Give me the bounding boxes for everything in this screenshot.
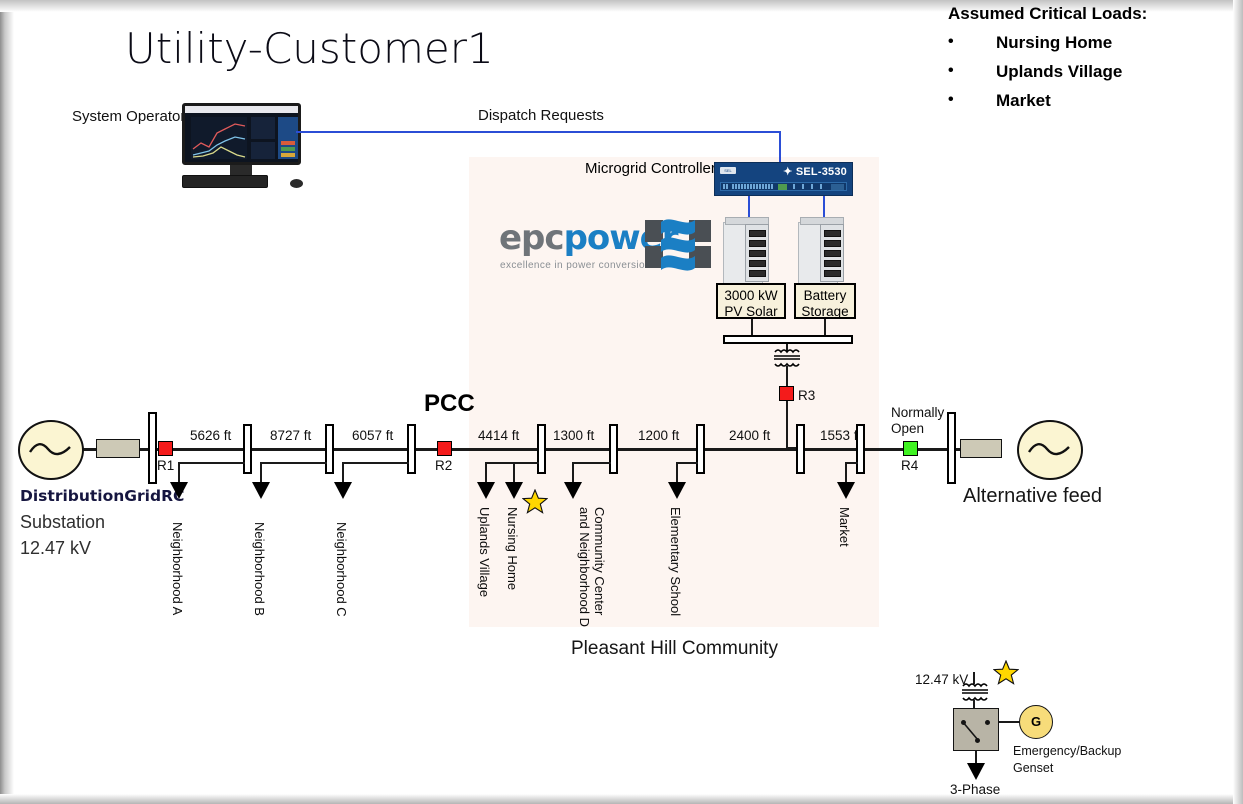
load-arrow-neighborhood-a bbox=[170, 482, 188, 499]
load-label-community-center-line1: Community Center bbox=[592, 507, 607, 615]
tap-wire-school-h bbox=[676, 462, 698, 464]
critical-load-star-icon-nursing bbox=[522, 489, 548, 515]
transfer-switch-blade bbox=[957, 718, 985, 744]
monitor-trend-svg bbox=[191, 117, 247, 159]
alternative-feed-source bbox=[1017, 420, 1083, 480]
distribution-grid-source bbox=[18, 420, 84, 480]
battery-storage-line2: Storage bbox=[796, 304, 854, 320]
tap-wire-market-v bbox=[845, 462, 847, 484]
load-label-market: Market bbox=[837, 507, 852, 547]
load-label-neighborhood-c: Neighborhood C bbox=[334, 522, 349, 617]
battery-storage-box: Battery Storage bbox=[794, 283, 856, 319]
monitor-kpi-amber bbox=[281, 153, 295, 157]
pv-solar-box: 3000 kW PV Solar bbox=[716, 283, 786, 319]
sel-brand-badge: SEL bbox=[720, 167, 736, 174]
segment-length-label: 4414 ft bbox=[478, 428, 519, 443]
alternative-feed-label: Alternative feed bbox=[963, 485, 1102, 508]
tap-wire-community-v bbox=[572, 462, 574, 484]
critical-loads-panel: Assumed Critical Loads: Nursing Home Upl… bbox=[948, 4, 1238, 115]
slide-edge-shadow-right bbox=[1233, 0, 1243, 804]
operator-workstation-icon bbox=[176, 103, 309, 191]
tap-wire-neighborhood-a-v bbox=[178, 462, 180, 484]
monitor-chart-main bbox=[191, 117, 247, 159]
substation-voltage: 12.47 kV bbox=[20, 538, 91, 559]
segment-length-label: 2400 ft bbox=[729, 428, 770, 443]
load-label-uplands-village: Uplands Village bbox=[477, 507, 492, 597]
genset-output-arrow bbox=[967, 763, 985, 780]
sel-port-strip bbox=[720, 182, 847, 191]
keyboard-icon bbox=[182, 175, 268, 188]
epcpower-logo-tagline: excellence in power conversion bbox=[500, 260, 651, 271]
recloser-r4-label: R4 bbox=[901, 458, 918, 473]
pv-inverter-cabinet bbox=[719, 214, 777, 290]
critical-load-item: Uplands Village bbox=[948, 57, 1238, 86]
segment-length-label: 1300 ft bbox=[553, 428, 594, 443]
monitor-chart-secondary bbox=[251, 117, 275, 139]
slide-canvas: Utility-Customer1 Assumed Critical Loads… bbox=[0, 0, 1243, 804]
tap-wire-school-v bbox=[676, 462, 678, 484]
transfer-switch-contact-b bbox=[985, 720, 990, 725]
load-arrow-neighborhood-b bbox=[252, 482, 270, 499]
battery-drop-wire bbox=[824, 319, 826, 335]
bus-community-center bbox=[609, 424, 618, 474]
segment-length-label: 6057 ft bbox=[352, 428, 393, 443]
load-label-nursing-home: Nursing Home bbox=[505, 507, 520, 590]
normally-open-label-line2: Open bbox=[891, 421, 924, 436]
monitor-kpi-red bbox=[281, 141, 295, 145]
ac-source-icon bbox=[20, 422, 82, 478]
pv-solar-rating: 3000 kW bbox=[718, 288, 784, 304]
monitor-kpi-green bbox=[281, 147, 295, 151]
bus-alternative-feed bbox=[947, 412, 956, 484]
genset-tie-wire bbox=[999, 721, 1021, 723]
tap-wire-neighborhood-a-h bbox=[178, 462, 245, 464]
segment-length-label: 1200 ft bbox=[638, 428, 679, 443]
der-xfmr-wire-bottom bbox=[786, 366, 788, 386]
tap-wire-nursing-v bbox=[513, 462, 515, 484]
tap-wire-neighborhood-b-h bbox=[260, 462, 327, 464]
load-label-neighborhood-b: Neighborhood B bbox=[252, 522, 267, 616]
pv-drop-wire bbox=[751, 319, 753, 335]
recloser-r3[interactable] bbox=[779, 386, 794, 401]
slide-edge-shadow-left bbox=[0, 0, 14, 804]
bus-uplands-nursing bbox=[537, 424, 546, 474]
tap-wire-uplands-v bbox=[485, 462, 487, 484]
recloser-r1[interactable] bbox=[158, 441, 173, 456]
monitor-screen bbox=[182, 103, 301, 165]
bus-elementary-school bbox=[696, 424, 705, 474]
genset-output-label: 3-Phase bbox=[950, 782, 1000, 797]
sel-model-label: ✦ SEL-3530 bbox=[783, 165, 847, 178]
load-arrow-uplands-village bbox=[477, 482, 495, 499]
monitor-side-panel bbox=[278, 117, 298, 159]
bus-market bbox=[856, 424, 865, 474]
critical-load-star-icon-genset bbox=[993, 660, 1019, 686]
substation-type: Substation bbox=[20, 512, 105, 533]
microgrid-controller-label: Microgrid Controller bbox=[585, 160, 716, 177]
bus-neighborhood-a bbox=[243, 424, 252, 474]
recloser-r2[interactable] bbox=[437, 441, 452, 456]
load-arrow-neighborhood-c bbox=[334, 482, 352, 499]
alternative-feed-transformer bbox=[960, 439, 1002, 458]
tap-wire-nursing-h bbox=[513, 462, 539, 464]
pv-solar-name: PV Solar bbox=[718, 304, 784, 320]
mouse-icon bbox=[290, 179, 303, 188]
genset-label-line1: Emergency/Backup bbox=[1013, 744, 1121, 758]
epcpower-logo: epcpower excellence in power conversion bbox=[499, 218, 711, 280]
recloser-r4[interactable] bbox=[903, 441, 918, 456]
tap-wire-neighborhood-c-v bbox=[342, 462, 344, 484]
tap-wire-community-h bbox=[572, 462, 611, 464]
dispatch-requests-label: Dispatch Requests bbox=[478, 107, 604, 124]
tap-wire-neighborhood-b-v bbox=[260, 462, 262, 484]
bus-neighborhood-c bbox=[407, 424, 416, 474]
epcpower-wave-mark bbox=[657, 214, 699, 276]
ac-source-icon-alt bbox=[1019, 422, 1081, 478]
load-label-community-center-line2: and Neighborhood D bbox=[577, 507, 592, 627]
der-tie-wire bbox=[786, 401, 788, 449]
load-arrow-nursing-home bbox=[505, 482, 523, 499]
normally-open-label-line1: Normally bbox=[891, 405, 944, 420]
bus-der-tie bbox=[796, 424, 805, 474]
load-arrow-market bbox=[837, 482, 855, 499]
substation-name: DistributionGridRC bbox=[20, 487, 184, 505]
der-collector-bus bbox=[723, 335, 853, 344]
system-operator-label: System Operator bbox=[72, 108, 185, 125]
pcc-label: PCC bbox=[424, 390, 475, 418]
slide-edge-shadow-bottom bbox=[0, 794, 1243, 804]
generator-symbol: G bbox=[1019, 705, 1053, 739]
tap-wire-neighborhood-c-h bbox=[342, 462, 409, 464]
load-arrow-elementary-school bbox=[668, 482, 686, 499]
bus-substation bbox=[148, 412, 157, 484]
critical-load-item: Market bbox=[948, 86, 1238, 115]
epcpower-logo-epc: epc bbox=[499, 218, 564, 258]
genset-label-line2: Genset bbox=[1013, 761, 1053, 775]
substation-transformer bbox=[96, 439, 140, 458]
genset-transformer-icon bbox=[960, 682, 990, 702]
monitor-chart-tertiary bbox=[251, 142, 275, 159]
monitor-toolbar bbox=[185, 106, 298, 113]
battery-inverter-cabinet bbox=[794, 214, 852, 290]
recloser-r2-label: R2 bbox=[435, 458, 452, 473]
battery-storage-line1: Battery bbox=[796, 288, 854, 304]
community-caption: Pleasant Hill Community bbox=[571, 638, 778, 660]
monitor-stand bbox=[230, 165, 252, 175]
emergency-genset-group: 12.47 kV G Emergency/Backup Genset 3-Pha… bbox=[905, 660, 1130, 795]
critical-loads-header: Assumed Critical Loads: bbox=[948, 4, 1238, 24]
page-title: Utility-Customer1 bbox=[125, 24, 494, 73]
sel-3530-controller[interactable]: SEL ✦ SEL-3530 bbox=[714, 162, 853, 196]
segment-length-label: 5626 ft bbox=[190, 428, 231, 443]
segment-length-label: 8727 ft bbox=[270, 428, 311, 443]
recloser-r3-label: R3 bbox=[798, 388, 815, 403]
load-arrow-community-center bbox=[564, 482, 582, 499]
der-transformer-icon bbox=[772, 348, 802, 368]
critical-loads-list: Nursing Home Uplands Village Market bbox=[948, 28, 1238, 115]
recloser-r1-label: R1 bbox=[157, 458, 174, 473]
dispatch-line-horizontal bbox=[296, 131, 781, 133]
critical-load-item: Nursing Home bbox=[948, 28, 1238, 57]
bus-neighborhood-b bbox=[325, 424, 334, 474]
load-label-neighborhood-a: Neighborhood A bbox=[170, 522, 185, 615]
load-label-elementary-school: Elementary School bbox=[668, 507, 683, 616]
